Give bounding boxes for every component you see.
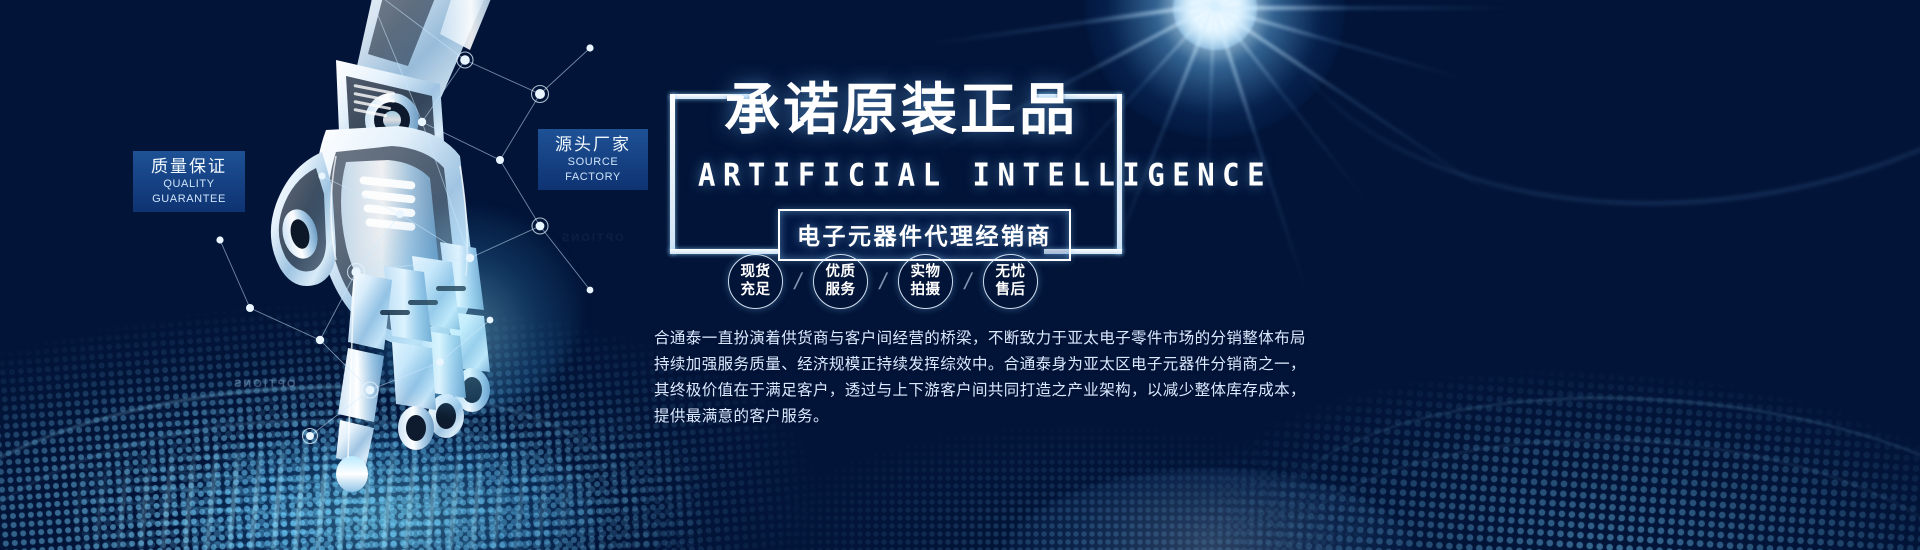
description-line-2: 持续加强服务质量、经济规模正持续发挥综效中。合通泰身为亚太区电子元器件分销商之一…	[654, 352, 1334, 378]
badge-source-factory: 源头厂家 SOURCE FACTORY	[538, 129, 648, 190]
description-line-4: 提供最满意的客户服务。	[654, 404, 1334, 430]
watermark-options-1: OPTIONS	[232, 378, 296, 390]
headline-chinese: 承诺原装正品	[724, 79, 1078, 142]
feature-circle-real-photo-line1: 实物	[911, 264, 941, 281]
description-line-3: 其终极价值在于满足客户，透过与上下游客户间共同打造之产业架构，以减少整体库存成本…	[654, 378, 1334, 404]
circle-separator-1: /	[780, 268, 816, 295]
circle-separator-3: /	[950, 268, 986, 295]
feature-circle-after-sales-line1: 无忧	[996, 264, 1026, 281]
feature-circle-after-sales: 无忧 售后	[983, 254, 1038, 309]
feature-circle-service-line1: 优质	[826, 264, 856, 281]
watermark-options-2: OPTIONS	[560, 232, 624, 244]
feature-circle-stock-line2: 充足	[741, 282, 771, 299]
feature-circle-list: 现货 充足 / 优质 服务 / 实物 拍摄 / 无忧 售后	[728, 254, 1038, 309]
feature-circle-after-sales-line2: 售后	[996, 282, 1026, 299]
badge-quality-guarantee: 质量保证 QUALITY GUARANTEE	[133, 151, 245, 212]
description-line-1: 合通泰一直扮演着供货商与客户间经营的桥梁，不断致力于亚太电子零件市场的分销整体布…	[654, 326, 1334, 352]
subtitle-text: 电子元器件代理经销商	[797, 223, 1052, 249]
feature-circle-service-line2: 服务	[826, 282, 856, 299]
feature-circle-real-photo: 实物 拍摄	[898, 254, 953, 309]
feature-circle-stock-line1: 现货	[741, 264, 771, 281]
feature-circle-service: 优质 服务	[813, 254, 868, 309]
badge-quality-guarantee-en: QUALITY GUARANTEE	[147, 177, 231, 206]
bracket-left-vertical	[670, 94, 675, 254]
banner-content: 承诺原装正品 ARTIFICIAL INTELLIGENCE 电子元器件代理经销…	[648, 78, 1348, 498]
badge-source-factory-cn: 源头厂家	[552, 134, 634, 155]
feature-circle-real-photo-line2: 拍摄	[911, 282, 941, 299]
badge-source-factory-en: SOURCE FACTORY	[552, 155, 634, 184]
feature-circle-stock: 现货 充足	[728, 254, 783, 309]
circle-separator-2: /	[865, 268, 901, 295]
network-node-graph	[70, 0, 630, 460]
headline-english: ARTIFICIAL INTELLIGENCE	[698, 157, 1272, 193]
network-node-svg	[70, 0, 630, 460]
promo-banner: OPTIONS OPTIONS 质量保证 QUALITY GUARANTEE 源…	[0, 0, 1920, 550]
badge-quality-guarantee-cn: 质量保证	[147, 156, 231, 177]
description-paragraph: 合通泰一直扮演着供货商与客户间经营的桥梁，不断致力于亚太电子零件市场的分销整体布…	[654, 326, 1334, 430]
